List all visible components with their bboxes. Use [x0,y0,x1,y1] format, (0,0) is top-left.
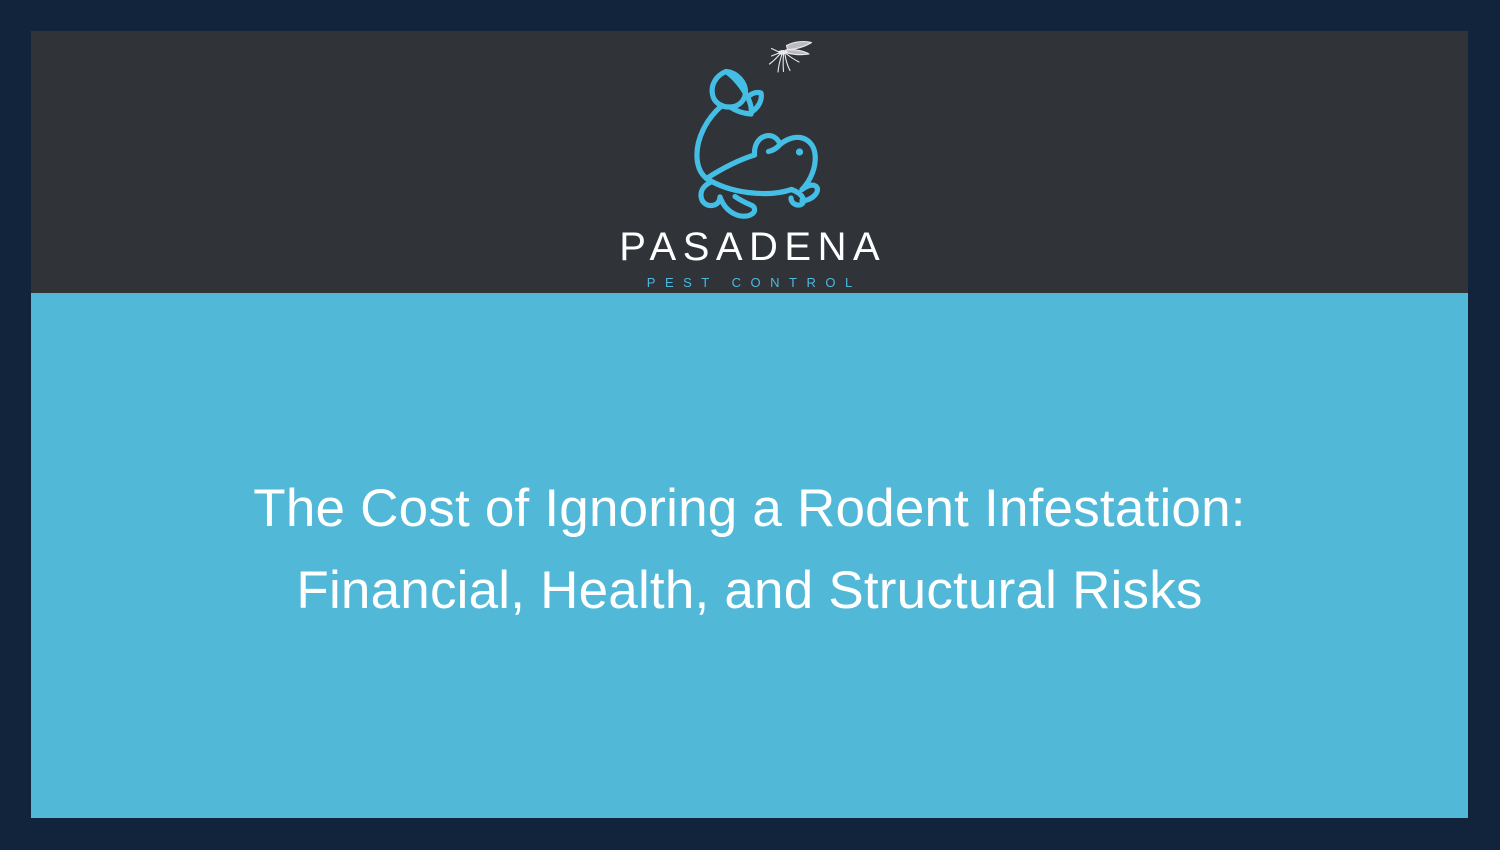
slide-title-line-2: Financial, Health, and Structural Risks [101,550,1398,632]
presentation-slide: PASADENA PEST CONTROL The Cost of Ignori… [0,0,1500,850]
brand-logo-lockup[interactable]: PASADENA PEST CONTROL [600,31,900,293]
brand-logo-mark [670,33,830,229]
slide-title-line-1: The Cost of Ignoring a Rodent Infestatio… [101,468,1398,550]
brand-tagline: PEST CONTROL [637,276,861,289]
slide-header-band: PASADENA PEST CONTROL [31,31,1468,293]
brand-name: PASADENA [613,227,886,267]
slide-card: PASADENA PEST CONTROL The Cost of Ignori… [31,31,1468,818]
rodent-outline-icon [696,106,817,217]
slide-title: The Cost of Ignoring a Rodent Infestatio… [31,468,1468,632]
mosquito-icon [769,42,811,73]
slide-body-band: The Cost of Ignoring a Rodent Infestatio… [31,293,1468,818]
